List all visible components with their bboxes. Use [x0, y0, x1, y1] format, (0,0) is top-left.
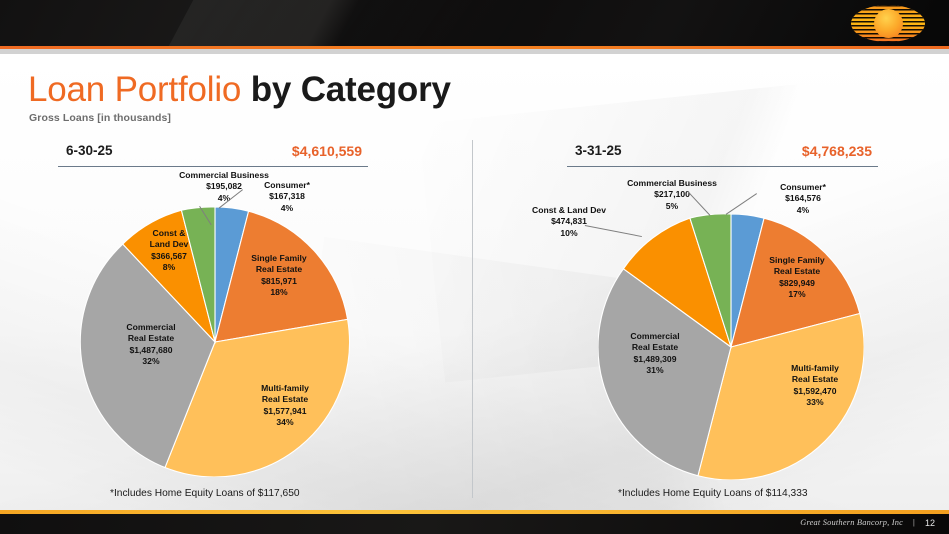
left-label-const-land-dev: Const & Land Dev $366,567 8%	[126, 228, 212, 274]
logo-sun-icon	[874, 9, 903, 38]
page-subtitle: Gross Loans [in thousands]	[29, 112, 171, 124]
sun-logo	[851, 5, 925, 42]
left-callout-consumer: Consumer* $167,318 4%	[242, 180, 332, 214]
page-title-part1: Loan Portfolio	[28, 70, 251, 109]
left-panel-date: 6-30-25	[66, 143, 113, 158]
left-footnote: *Includes Home Equity Loans of $117,650	[110, 488, 300, 499]
footer-company: Great Southern Bancorp, Inc	[800, 518, 903, 527]
footer-bar: Great Southern Bancorp, Inc | 12	[0, 514, 949, 534]
right-footnote: *Includes Home Equity Loans of $114,333	[618, 488, 808, 499]
page-title-part2: by Category	[251, 70, 451, 109]
banner-sheen	[145, 0, 544, 46]
left-label-multi-family: Multi-family Real Estate $1,577,941 34%	[230, 383, 340, 429]
left-label-single-family: Single Family Real Estate $815,971 18%	[224, 253, 334, 299]
left-label-commercial-re: Commercial Real Estate $1,487,680 32%	[96, 322, 206, 368]
right-panel-date: 3-31-25	[575, 143, 622, 158]
right-label-single-family: Single Family Real Estate $829,949 17%	[742, 255, 852, 301]
right-callout-const-land-dev: Const & Land Dev $474,831 10%	[499, 205, 639, 239]
right-panel-total: $4,768,235	[802, 143, 872, 159]
panel-divider	[472, 140, 473, 498]
right-label-multi-family: Multi-family Real Estate $1,592,470 33%	[760, 363, 870, 409]
slide: Loan Portfolio by Category Gross Loans […	[0, 0, 949, 534]
left-panel-rule	[58, 166, 368, 167]
top-banner	[0, 0, 949, 46]
footer-page-number: 12	[925, 518, 935, 528]
footer-separator: |	[913, 517, 915, 527]
page-title: Loan Portfolio by Category	[28, 70, 451, 110]
right-label-commercial-re: Commercial Real Estate $1,489,309 31%	[600, 331, 710, 377]
right-panel-rule	[567, 166, 878, 167]
right-callout-consumer: Consumer* $164,576 4%	[756, 182, 850, 216]
left-panel-total: $4,610,559	[292, 143, 362, 159]
